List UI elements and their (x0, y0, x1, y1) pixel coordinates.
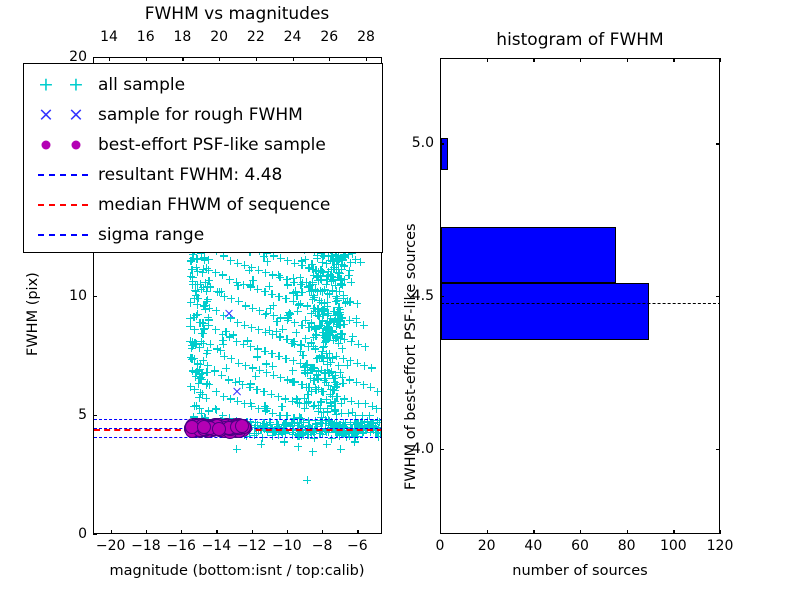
marker-stroke (243, 436, 251, 437)
marker-stroke (380, 427, 381, 435)
marker-stroke (285, 295, 286, 303)
marker-stroke (314, 405, 322, 406)
marker-stroke (305, 387, 313, 388)
marker-stroke (340, 445, 341, 453)
marker-stroke (309, 299, 317, 300)
marker-stroke (328, 369, 329, 377)
marker-stroke (206, 297, 207, 305)
marker-stroke (193, 304, 201, 305)
marker-stroke (339, 422, 347, 423)
marker-stroke (336, 312, 344, 313)
psf-sample-point (212, 422, 226, 436)
marker-stroke (343, 436, 351, 437)
marker-stroke (283, 339, 291, 340)
marker-stroke (311, 286, 312, 294)
marker-stroke (292, 421, 293, 429)
marker-stroke (336, 352, 337, 360)
marker-stroke (338, 261, 339, 269)
marker-stroke (323, 342, 324, 350)
marker-stroke (190, 337, 191, 345)
marker-stroke (331, 435, 332, 443)
marker-stroke (244, 340, 252, 341)
marker-stroke (322, 259, 323, 267)
marker-stroke (368, 422, 376, 423)
marker-stroke (275, 427, 283, 428)
marker-stroke (196, 255, 197, 263)
marker-stroke (286, 335, 287, 343)
marker-stroke (293, 289, 294, 297)
marker-stroke (307, 431, 308, 439)
marker-stroke (327, 323, 328, 331)
psf-sample-point (196, 418, 210, 432)
marker-stroke (298, 325, 306, 326)
marker-stroke (283, 425, 284, 433)
marker-stroke (194, 271, 202, 272)
hist-xaxis-top-tickmark (487, 58, 488, 62)
marker-stroke (247, 383, 255, 384)
legend-label: best-effort PSF-like sample (94, 135, 326, 155)
psf-sample-point (213, 423, 227, 437)
psf-sample-point (231, 421, 245, 435)
marker-stroke (217, 288, 218, 296)
marker-stroke (302, 365, 310, 366)
marker-stroke (332, 337, 340, 338)
marker-stroke (351, 278, 352, 286)
marker-stroke (320, 308, 328, 309)
marker-stroke (222, 331, 223, 339)
marker-stroke (358, 427, 359, 435)
marker-stroke (308, 398, 309, 406)
left-yaxis-tickmark (93, 415, 97, 416)
marker-stroke (244, 423, 245, 431)
marker-stroke (266, 309, 267, 317)
psf-sample-point (223, 421, 237, 435)
marker-stroke (326, 274, 334, 275)
marker-stroke (213, 291, 221, 292)
marker-stroke (194, 298, 202, 299)
marker-stroke (237, 397, 238, 405)
marker-stroke (338, 413, 346, 414)
psf-sample-point (208, 421, 222, 435)
psf-sample-point (236, 420, 250, 434)
marker-stroke (306, 399, 307, 407)
psf-sample-point (184, 422, 198, 436)
marker-stroke (256, 430, 257, 438)
marker-stroke (265, 424, 266, 432)
marker-stroke (306, 285, 314, 286)
marker-stroke (317, 429, 325, 430)
marker-stroke (285, 419, 286, 427)
marker-stroke (198, 379, 206, 380)
psf-sample-point (227, 421, 241, 435)
legend-item[interactable]: resultant FWHM: 4.48 (32, 160, 372, 190)
marker-stroke (207, 283, 208, 291)
marker-stroke (284, 320, 292, 321)
marker-stroke (263, 261, 271, 262)
marker-stroke (351, 422, 359, 423)
marker-stroke (312, 448, 313, 456)
marker-stroke (186, 341, 194, 342)
marker-stroke (250, 281, 251, 289)
marker-stroke (283, 426, 284, 434)
marker-stroke (333, 298, 341, 299)
marker-stroke (292, 332, 300, 333)
marker-stroke (282, 429, 290, 430)
psf-sample-point (202, 422, 216, 436)
psf-sample-point (223, 422, 237, 436)
marker-stroke (315, 357, 323, 358)
marker-stroke (342, 302, 350, 303)
marker-stroke (290, 418, 298, 419)
marker-stroke (342, 281, 343, 289)
left-panel-title: FWHM vs magnitudes (145, 6, 330, 23)
marker-stroke (339, 306, 340, 314)
marker-stroke (276, 420, 277, 428)
marker-stroke (291, 419, 292, 427)
marker-stroke (354, 429, 362, 430)
marker-stroke (343, 419, 344, 427)
marker-stroke (203, 417, 204, 425)
marker-stroke (263, 372, 271, 373)
psf-sample-point (226, 420, 240, 434)
marker-stroke (252, 376, 260, 377)
psf-sample-point (218, 420, 232, 434)
marker-stroke (305, 425, 313, 426)
marker-stroke (260, 426, 268, 427)
marker-stroke (336, 257, 337, 265)
marker-stroke (353, 423, 361, 424)
marker-stroke (323, 343, 324, 351)
marker-stroke (309, 282, 317, 283)
marker-stroke (324, 255, 332, 256)
psf-sample-point (218, 419, 232, 433)
marker-stroke (297, 345, 305, 346)
psf-sample-point (195, 419, 209, 433)
marker-stroke (316, 325, 324, 326)
marker-stroke (326, 324, 327, 332)
hist-xaxis-tick: 0 (436, 539, 445, 553)
marker-stroke (251, 427, 259, 428)
marker-stroke (187, 357, 195, 358)
psf-sample-point (220, 419, 234, 433)
marker-stroke (300, 281, 301, 289)
marker-stroke (325, 424, 326, 432)
marker-stroke (190, 422, 198, 423)
marker-stroke (234, 285, 242, 286)
marker-stroke (242, 305, 250, 306)
marker-stroke (325, 425, 333, 426)
marker-stroke (294, 340, 295, 348)
marker-stroke (252, 304, 253, 312)
marker-stroke (231, 295, 232, 303)
marker-stroke (339, 421, 340, 429)
marker-stroke (369, 412, 370, 420)
marker-stroke (186, 326, 194, 327)
marker-stroke (261, 351, 269, 352)
marker-stroke (251, 324, 252, 332)
marker-stroke (292, 431, 293, 439)
marker-stroke (335, 423, 336, 431)
marker-stroke (211, 370, 219, 371)
marker-stroke (278, 427, 279, 435)
marker-stroke (314, 374, 315, 382)
marker-stroke (328, 396, 336, 397)
marker-stroke (340, 311, 341, 319)
marker-stroke (340, 295, 348, 296)
marker-stroke (331, 418, 332, 426)
marker-stroke (314, 434, 315, 442)
marker-stroke (186, 318, 194, 319)
marker-stroke (360, 432, 368, 433)
marker-stroke (245, 433, 253, 434)
marker-stroke (312, 270, 320, 271)
marker-stroke (261, 291, 269, 292)
marker-stroke (314, 304, 315, 312)
marker-stroke (229, 333, 230, 341)
marker-stroke (240, 434, 248, 435)
marker-stroke (330, 399, 331, 407)
marker-stroke (351, 429, 352, 437)
marker-stroke (323, 337, 331, 338)
marker-stroke (191, 355, 192, 363)
marker-stroke (351, 424, 359, 425)
marker-stroke (189, 254, 197, 255)
marker-stroke (197, 268, 198, 276)
left-xaxis-top-tick: 16 (137, 30, 155, 44)
marker-stroke (373, 428, 381, 429)
marker-stroke (343, 291, 344, 299)
marker-stroke (321, 426, 322, 434)
marker-stroke (308, 264, 316, 265)
marker-stroke (226, 279, 234, 280)
marker-stroke (318, 430, 326, 431)
marker-stroke (282, 325, 283, 333)
marker-stroke (311, 287, 312, 295)
marker-stroke (376, 432, 381, 433)
marker-stroke (199, 418, 207, 419)
marker-stroke (314, 371, 322, 372)
marker-stroke (329, 318, 330, 326)
marker-stroke (318, 312, 319, 320)
marker-stroke (370, 428, 371, 436)
marker-stroke (326, 260, 327, 268)
marker-stroke (264, 425, 265, 433)
marker-stroke (331, 266, 332, 274)
marker-stroke (244, 431, 245, 439)
marker-stroke (300, 426, 301, 434)
marker-stroke (333, 426, 341, 427)
marker-stroke (334, 386, 335, 394)
marker-stroke (323, 307, 324, 315)
marker-stroke (337, 429, 338, 437)
marker-stroke (346, 379, 354, 380)
marker-stroke (338, 426, 339, 434)
marker-stroke (367, 426, 375, 427)
marker-stroke (299, 400, 300, 408)
marker-stroke (200, 280, 201, 288)
marker-stroke (263, 423, 264, 431)
psf-sample-point (206, 422, 220, 436)
marker-stroke (327, 427, 335, 428)
marker-stroke (301, 288, 302, 296)
marker-stroke (335, 307, 343, 308)
marker-stroke (352, 259, 360, 260)
marker-stroke (284, 422, 285, 430)
psf-sample-point (237, 420, 251, 434)
marker-stroke (349, 298, 350, 306)
marker-stroke (212, 310, 220, 311)
marker-stroke (246, 427, 247, 435)
marker-stroke (346, 432, 354, 433)
marker-stroke (300, 422, 308, 423)
marker-stroke (310, 380, 318, 381)
marker-stroke (334, 432, 342, 433)
marker-stroke (201, 376, 202, 384)
marker-stroke (220, 296, 228, 297)
marker-stroke (342, 330, 343, 338)
hist-xaxis-tick: 80 (618, 539, 636, 553)
marker-stroke (328, 268, 329, 276)
marker-stroke (367, 424, 368, 432)
marker-stroke (208, 266, 209, 274)
marker-stroke (261, 314, 269, 315)
marker-stroke (346, 424, 354, 425)
marker-stroke (266, 369, 267, 377)
marker-stroke (318, 407, 319, 415)
legend-item[interactable]: sigma range (32, 220, 372, 250)
marker-stroke (350, 424, 351, 432)
marker-stroke (309, 281, 310, 289)
psf-sample-point (229, 421, 243, 435)
dashed-line-icon (38, 174, 88, 176)
hist-xaxis-top-tickmark (627, 58, 628, 62)
marker-stroke (324, 327, 332, 328)
marker-stroke (197, 281, 198, 289)
marker-stroke (206, 394, 207, 402)
marker-stroke (297, 396, 298, 404)
marker-stroke (197, 366, 198, 374)
psf-sample-point (207, 422, 221, 436)
marker-stroke (314, 308, 322, 309)
marker-stroke (327, 290, 328, 298)
marker-stroke (334, 383, 335, 391)
legend-item[interactable]: best-effort PSF-like sample (32, 130, 372, 160)
marker-stroke (325, 426, 326, 434)
marker-stroke (308, 429, 316, 430)
marker-stroke (278, 423, 279, 431)
marker-stroke (294, 378, 295, 386)
legend-item[interactable]: ++all sample (32, 70, 372, 100)
marker-stroke (298, 443, 299, 451)
marker-stroke (308, 324, 309, 332)
marker-stroke (269, 366, 277, 367)
sigma-upper-line (94, 419, 381, 420)
marker-stroke (337, 449, 345, 450)
legend-item[interactable]: ××sample for rough FWHM (32, 100, 372, 130)
psf-sample-point (218, 421, 232, 435)
marker-stroke (346, 424, 347, 432)
marker-stroke (325, 294, 333, 295)
marker-stroke (283, 279, 291, 280)
marker-stroke (337, 333, 338, 341)
left-yaxis-tick: 5 (78, 408, 87, 422)
marker-stroke (194, 259, 202, 260)
marker-stroke (297, 430, 298, 438)
marker-stroke (303, 429, 311, 430)
marker-stroke (217, 345, 218, 353)
marker-stroke (322, 428, 330, 429)
marker-stroke (338, 428, 346, 429)
marker-stroke (315, 266, 316, 274)
marker-stroke (334, 398, 335, 406)
marker-stroke (336, 314, 344, 315)
marker-stroke (330, 386, 331, 394)
marker-stroke (260, 423, 268, 424)
psf-sample-point (236, 423, 250, 437)
marker-stroke (278, 428, 279, 436)
marker-stroke (311, 405, 319, 406)
psf-sample-point (211, 421, 225, 435)
marker-stroke (335, 429, 343, 430)
marker-stroke (282, 428, 283, 436)
marker-stroke (323, 263, 331, 264)
left-xaxis-bottom-tick: −6 (347, 539, 368, 553)
marker-stroke (192, 281, 193, 289)
marker-stroke (244, 428, 252, 429)
marker-stroke (274, 434, 282, 435)
marker-stroke (220, 396, 228, 397)
marker-stroke (332, 422, 333, 430)
marker-stroke (340, 431, 348, 432)
marker-stroke (220, 417, 221, 425)
marker-stroke (352, 425, 353, 433)
marker-stroke (364, 425, 372, 426)
circle-marker-icon (72, 141, 81, 150)
left-yaxis-tickmark (93, 296, 97, 297)
marker-stroke (260, 256, 268, 257)
marker-stroke (347, 361, 348, 369)
marker-stroke (317, 302, 325, 303)
marker-stroke (267, 394, 275, 395)
marker-stroke (334, 432, 342, 433)
marker-stroke (314, 426, 322, 427)
psf-sample-point (227, 420, 241, 434)
marker-stroke (332, 414, 340, 415)
marker-stroke (363, 321, 364, 329)
marker-stroke (327, 256, 335, 257)
marker-stroke (198, 380, 199, 388)
marker-stroke (219, 418, 227, 419)
legend-item[interactable]: median FHWM of sequence (32, 190, 372, 220)
marker-stroke (349, 267, 350, 275)
marker-stroke (336, 427, 337, 435)
marker-stroke (308, 289, 316, 290)
marker-stroke (318, 402, 319, 410)
left-xaxis-bottom-tickmark (111, 530, 112, 534)
marker-stroke (192, 315, 200, 316)
marker-stroke (311, 260, 312, 268)
marker-stroke (199, 287, 207, 288)
marker-stroke (328, 276, 336, 277)
marker-stroke (334, 425, 335, 433)
marker-stroke (341, 314, 342, 322)
marker-stroke (320, 275, 321, 283)
marker-stroke (343, 355, 344, 363)
marker-stroke (247, 286, 255, 287)
marker-stroke (353, 322, 361, 323)
marker-stroke (369, 423, 377, 424)
marker-stroke (235, 301, 243, 302)
